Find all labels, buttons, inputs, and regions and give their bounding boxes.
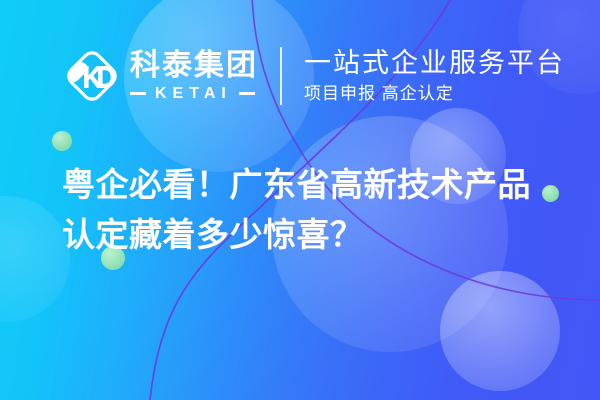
brand-wordmark: 科泰集团 KETAI	[130, 51, 258, 102]
brand-name-en-row: KETAI	[130, 86, 258, 102]
decorative-circle-bottom-right	[440, 271, 560, 391]
decorative-circle-left	[0, 196, 70, 322]
dash-left-icon	[130, 92, 146, 95]
header-divider	[280, 47, 282, 105]
slogan-sub: 项目申报 高企认定	[304, 85, 565, 104]
slogan-main: 一站式企业服务平台	[304, 49, 565, 78]
banner-header: 科泰集团 KETAI 一站式企业服务平台 项目申报 高企认定	[0, 38, 600, 114]
promo-banner: 科泰集团 KETAI 一站式企业服务平台 项目申报 高企认定 粤企必看！广东省高…	[0, 0, 600, 400]
slogan: 一站式企业服务平台 项目申报 高企认定	[304, 49, 565, 104]
brand-name-en: KETAI	[155, 86, 232, 102]
decorative-dot-green-left	[52, 131, 72, 151]
dash-right-icon	[239, 92, 255, 95]
ketai-diamond-kd-logo-icon	[62, 46, 122, 106]
headline-text: 粤企必看！广东省高新技术产品认定藏着多少惊喜？	[62, 160, 562, 260]
brand-name-cn: 科泰集团	[130, 51, 258, 81]
brand-logo[interactable]: 科泰集团 KETAI	[62, 46, 258, 106]
